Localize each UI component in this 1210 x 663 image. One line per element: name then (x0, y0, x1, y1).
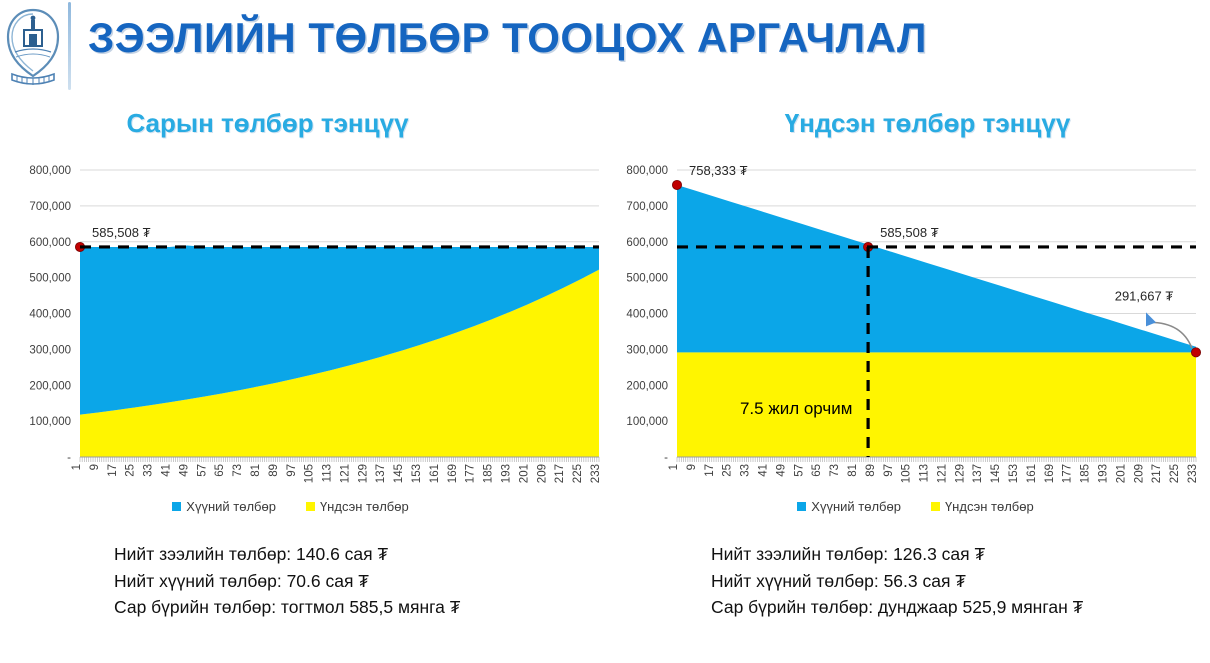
x-axis-tick-label: 161 (429, 464, 441, 483)
x-axis-tick-label: 217 (554, 464, 566, 483)
panel-principal-equal: Үндсэн төлбөр тэнцүү -100,000200,000300,… (605, 95, 1210, 663)
x-axis-tick-label: 209 (1133, 464, 1145, 483)
x-axis-tick-label: 33 (143, 464, 155, 477)
x-axis-tick-label: 49 (178, 464, 190, 477)
y-axis-tick-label: 800,000 (626, 165, 668, 177)
y-axis-labels-left: -100,000200,000300,000400,000500,000600,… (29, 165, 71, 464)
stat-total-interest: Нийт хүүний төлбөр: 56.3 сая ₮ (711, 568, 1210, 595)
y-axis-tick-label: - (664, 452, 668, 464)
y-axis-tick-label: 600,000 (626, 237, 668, 249)
y-axis-tick-label: 400,000 (29, 309, 71, 321)
stat-total-payment: Нийт зээлийн төлбөр: 126.3 сая ₮ (711, 541, 1210, 568)
x-axis-labels-left: 1917253341495765738189971051131211291371… (71, 464, 602, 483)
x-axis-tick-label: 105 (901, 464, 913, 483)
annotation-value-label: 585,508 ₮ (880, 225, 939, 240)
y-axis-tick-label: 700,000 (626, 201, 668, 213)
x-axis-tick-label: 217 (1151, 464, 1163, 483)
x-axis-tick-label: 25 (125, 464, 137, 477)
x-axis-tick-label: 89 (268, 464, 280, 477)
y-axis-tick-label: 500,000 (29, 273, 71, 285)
legend-label-principal: Үндсэн төлбөр (320, 499, 409, 514)
chart-principal-equal: -100,000200,000300,000400,000500,000600,… (615, 160, 1203, 550)
annotation-duration-label: 7.5 жил орчим (740, 399, 852, 418)
chart-svg-right: -100,000200,000300,000400,000500,000600,… (615, 160, 1203, 550)
stats-left: Нийт зээлийн төлбөр: 140.6 сая ₮ Нийт хү… (0, 541, 605, 621)
x-axis-tick-label: 97 (286, 464, 298, 477)
x-axis-tick-label: 161 (1026, 464, 1038, 483)
x-axis-tick-label: 209 (536, 464, 548, 483)
stat-total-interest: Нийт хүүний төлбөр: 70.6 сая ₮ (114, 568, 605, 595)
x-axis-tick-label: 225 (1169, 464, 1181, 483)
x-axis-tick-label: 233 (1187, 464, 1199, 483)
chart-svg-left: -100,000200,000300,000400,000500,000600,… (18, 160, 606, 550)
slide-header: ЗЭЭЛИЙН ТӨЛБӨР ТООЦОХ АРГАЧЛАЛ (0, 0, 1210, 95)
x-axis-tick-label: 137 (375, 464, 387, 483)
areas-left (80, 246, 599, 457)
x-axis-tick-label: 137 (972, 464, 984, 483)
x-axis-tick-label: 73 (232, 464, 244, 477)
x-axis-tick-label: 25 (722, 464, 734, 477)
x-axis-tick-label: 153 (1008, 464, 1020, 483)
annotation-arrow-head (1146, 312, 1156, 326)
x-axis-tick-label: 129 (954, 464, 966, 483)
logo-svg (2, 4, 64, 92)
x-axis-tick-label: 17 (704, 464, 716, 477)
y-axis-tick-label: 300,000 (29, 344, 71, 356)
x-axis-tick-label: 113 (322, 464, 334, 482)
stat-total-payment: Нийт зээлийн төлбөр: 140.6 сая ₮ (114, 541, 605, 568)
x-axis-tick-label: 89 (865, 464, 877, 477)
legend-item-principal: Үндсэн төлбөр (931, 499, 1034, 514)
legend-label-principal: Үндсэн төлбөр (945, 499, 1034, 514)
y-axis-tick-label: - (67, 452, 71, 464)
x-axis-tick-label: 81 (250, 464, 262, 477)
panel-subtitle-right: Үндсэн төлбөр тэнцүү (625, 108, 1210, 139)
data-point-marker (1191, 348, 1200, 357)
legend-right: Хүүний төлбөр Үндсэн төлбөр (613, 499, 1210, 514)
y-axis-tick-label: 200,000 (626, 380, 668, 392)
legend-item-interest: Хүүний төлбөр (172, 499, 276, 514)
x-axis-tick-label: 73 (829, 464, 841, 477)
y-axis-tick-label: 200,000 (29, 380, 71, 392)
legend-item-principal: Үндсэн төлбөр (306, 499, 409, 514)
x-axis-tick-label: 41 (757, 464, 769, 477)
header-divider (68, 2, 71, 90)
x-axis-tick-label: 65 (811, 464, 823, 477)
x-axis-tick-label: 9 (89, 464, 101, 470)
y-axis-tick-label: 800,000 (29, 165, 71, 177)
x-axis-tick-label: 185 (1080, 464, 1092, 483)
legend-label-interest: Хүүний төлбөр (186, 499, 276, 514)
stat-monthly-payment: Сар бүрийн төлбөр: тогтмол 585,5 мянга ₮ (114, 594, 605, 621)
y-axis-tick-label: 500,000 (626, 273, 668, 285)
y-axis-tick-label: 600,000 (29, 237, 71, 249)
x-axis-tick-label: 177 (1062, 464, 1074, 483)
y-axis-tick-label: 400,000 (626, 309, 668, 321)
y-axis-tick-label: 100,000 (626, 416, 668, 428)
x-axis-tick-label: 65 (214, 464, 226, 477)
legend-left: Хүүний төлбөр Үндсэн төлбөр (0, 499, 593, 514)
x-axis-labels-right: 1917253341495765738189971051131211291371… (668, 464, 1199, 483)
x-axis-tick-label: 121 (936, 464, 948, 483)
annotation-value-label: 585,508 ₮ (92, 225, 151, 240)
x-axis-tick-label: 169 (447, 464, 459, 483)
x-axis-tick-label: 9 (686, 464, 698, 470)
x-axis-tick-label: 145 (393, 464, 405, 483)
x-axis-tick-label: 81 (847, 464, 859, 477)
legend-swatch-principal (931, 502, 940, 511)
x-axis-tick-label: 41 (160, 464, 172, 477)
y-axis-tick-label: 100,000 (29, 416, 71, 428)
y-axis-tick-label: 300,000 (626, 344, 668, 356)
x-axis-tick-label: 177 (465, 464, 477, 483)
x-axis-tick-label: 185 (483, 464, 495, 483)
page-title: ЗЭЭЛИЙН ТӨЛБӨР ТООЦОХ АРГАЧЛАЛ (88, 14, 927, 62)
x-axis-tick-label: 153 (411, 464, 423, 483)
x-axis-tick-label: 57 (196, 464, 208, 477)
x-axis-tick-label: 129 (357, 464, 369, 483)
legend-swatch-interest (797, 502, 806, 511)
x-axis-tick-label: 201 (1115, 464, 1127, 483)
x-axis-tick-label: 193 (1098, 464, 1110, 483)
x-axis-tick-label: 193 (501, 464, 513, 483)
y-axis-tick-label: 700,000 (29, 201, 71, 213)
bank-emblem-logo (2, 4, 64, 92)
legend-swatch-interest (172, 502, 181, 511)
data-point-marker (672, 180, 681, 189)
x-axis-tick-label: 57 (793, 464, 805, 477)
x-axis-tick-label: 225 (572, 464, 584, 483)
x-axis-tick-label: 1 (71, 464, 83, 470)
x-axis-tick-label: 105 (304, 464, 316, 483)
x-axis-tick-label: 145 (990, 464, 1002, 483)
x-axis-tick-label: 17 (107, 464, 119, 477)
x-axis-tick-label: 121 (339, 464, 351, 483)
annotation-value-label: 758,333 ₮ (689, 163, 748, 178)
legend-item-interest: Хүүний төлбөр (797, 499, 901, 514)
x-axis-tick-label: 1 (668, 464, 680, 470)
x-axis-tick-label: 49 (775, 464, 787, 477)
chart-monthly-equal: -100,000200,000300,000400,000500,000600,… (18, 160, 606, 550)
x-axis-tick-label: 97 (883, 464, 895, 477)
stats-right: Нийт зээлийн төлбөр: 126.3 сая ₮ Нийт хү… (605, 541, 1210, 621)
panel-subtitle-left: Сарын төлбөр тэнцүү (0, 108, 570, 139)
y-axis-labels-right: -100,000200,000300,000400,000500,000600,… (626, 165, 668, 464)
x-axis-ticks-left (80, 457, 599, 462)
stat-monthly-payment: Сар бүрийн төлбөр: дунджаар 525,9 мянган… (711, 594, 1210, 621)
x-axis-ticks-right (677, 457, 1196, 462)
x-axis-tick-label: 33 (740, 464, 752, 477)
area-interest (677, 185, 1196, 352)
x-axis-tick-label: 201 (518, 464, 530, 483)
legend-swatch-principal (306, 502, 315, 511)
panel-monthly-equal: Сарын төлбөр тэнцүү -100,000200,000300,0… (0, 95, 605, 663)
annotation-value-label: 291,667 ₮ (1115, 288, 1174, 303)
x-axis-tick-label: 113 (919, 464, 931, 482)
x-axis-tick-label: 169 (1044, 464, 1056, 483)
legend-label-interest: Хүүний төлбөр (811, 499, 901, 514)
x-axis-tick-label: 233 (590, 464, 602, 483)
